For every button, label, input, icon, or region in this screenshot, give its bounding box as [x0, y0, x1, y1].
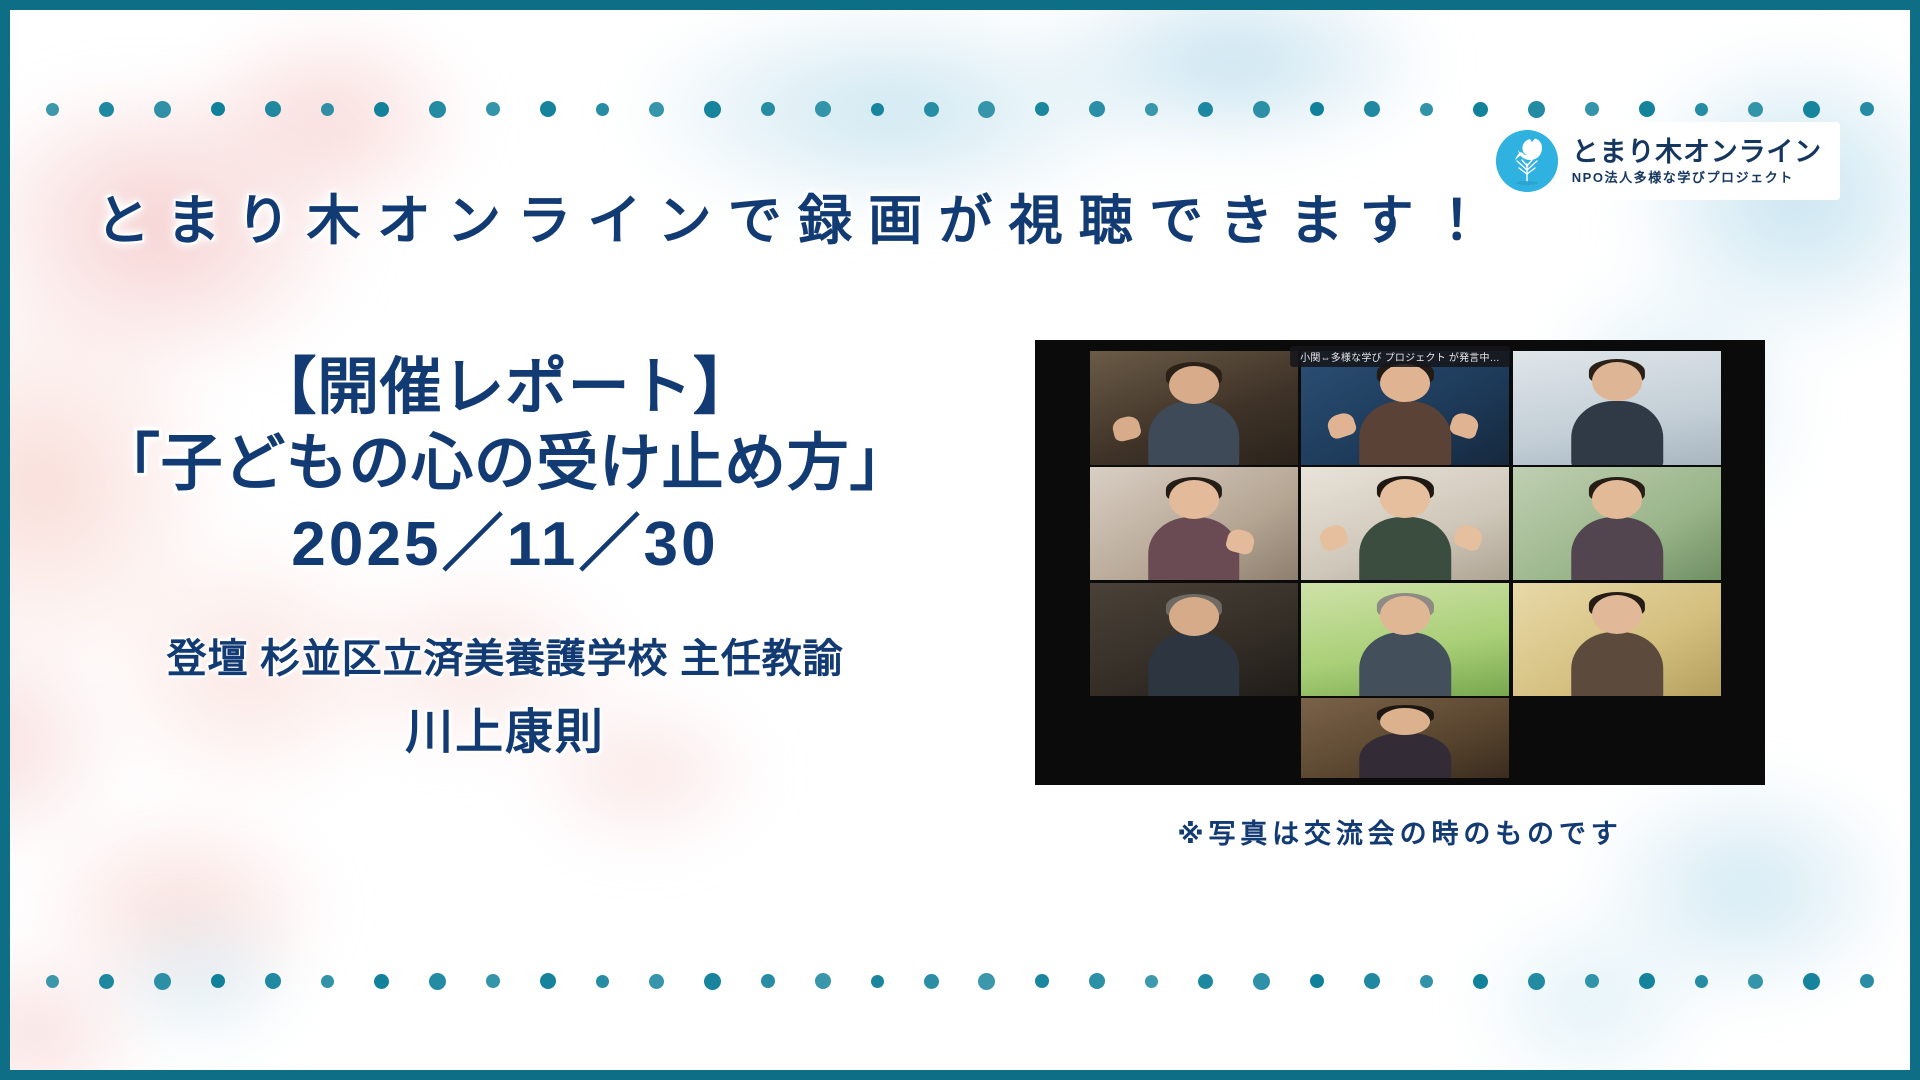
decorative-dot	[1528, 973, 1545, 990]
decorative-dot	[761, 102, 775, 116]
decorative-dot	[429, 973, 446, 990]
dotted-rule-bottom	[46, 968, 1874, 994]
decorative-dot	[1803, 973, 1820, 990]
decorative-dot	[649, 974, 664, 989]
decorative-dot	[596, 975, 609, 988]
decorative-dot	[265, 101, 281, 117]
decorative-dot	[1035, 974, 1049, 988]
decorative-dot	[1528, 101, 1545, 118]
event-date: 2025／11／30	[40, 505, 970, 586]
participant-face	[1592, 480, 1642, 519]
decorative-dot	[1748, 974, 1763, 989]
participant-face	[1380, 479, 1430, 518]
frame-border-bottom	[0, 1070, 1920, 1080]
video-tile	[1301, 698, 1509, 778]
video-tile	[1513, 583, 1721, 696]
frame-border-top	[0, 0, 1920, 10]
frame-border-right	[1910, 0, 1920, 1080]
decorative-dot	[596, 103, 609, 116]
video-tile	[1090, 583, 1298, 696]
decorative-dot	[1585, 974, 1599, 988]
dotted-rule-top	[46, 96, 1874, 122]
decorative-dot	[540, 101, 556, 117]
decorative-dot	[1145, 103, 1158, 116]
brand-logo-text: とまり木オンライン NPO法人多様な学びプロジェクト	[1572, 138, 1822, 185]
decorative-dot	[1639, 101, 1655, 117]
event-title: 「子どもの心の受け止め方」	[40, 426, 970, 502]
participant-face	[1380, 596, 1430, 635]
watercolor-wash-pink-bottom-left	[0, 740, 450, 1080]
decorative-dot	[1748, 102, 1763, 117]
speaker-name: 川上康則	[40, 692, 970, 762]
decorative-dot	[924, 974, 939, 989]
video-tile	[1301, 583, 1509, 696]
decorative-dot	[1253, 101, 1270, 118]
video-tile	[1513, 467, 1721, 580]
brand-logo-subtitle: NPO法人多様な学びプロジェクト	[1572, 171, 1822, 185]
decorative-dot	[99, 974, 114, 989]
video-tile	[1301, 351, 1509, 464]
decorative-dot	[815, 973, 831, 989]
decorative-dot	[374, 102, 389, 117]
decorative-dot	[1145, 975, 1158, 988]
decorative-dot	[1310, 102, 1324, 116]
decorative-dot	[1695, 975, 1708, 988]
decorative-dot	[99, 102, 114, 117]
decorative-dot	[321, 975, 334, 988]
report-label: 【開催レポート】	[40, 350, 970, 426]
decorative-dot	[1473, 974, 1488, 989]
participant-body	[1360, 733, 1452, 778]
participant-body	[1148, 401, 1240, 465]
decorative-dot	[1585, 102, 1599, 116]
decorative-dot	[1198, 974, 1213, 989]
decorative-dot	[486, 974, 500, 988]
decorative-dot	[1035, 102, 1049, 116]
decorative-dot	[1364, 101, 1380, 117]
participant-face	[1169, 366, 1219, 405]
participant-body	[1360, 401, 1452, 465]
video-call-grid	[1035, 340, 1765, 785]
decorative-dot	[978, 973, 995, 990]
video-tile	[1090, 467, 1298, 580]
brand-logo-title: とまり木オンライン	[1572, 138, 1822, 166]
decorative-dot	[704, 101, 721, 118]
decorative-dot	[1253, 973, 1270, 990]
participant-face	[1592, 362, 1642, 401]
decorative-dot	[978, 101, 995, 118]
decorative-dot	[924, 102, 939, 117]
decorative-dot	[761, 974, 775, 988]
brand-logo: とまり木オンライン NPO法人多様な学びプロジェクト	[1486, 122, 1840, 200]
decorative-dot	[429, 101, 446, 118]
decorative-dot	[1860, 102, 1874, 116]
photo-caption-note: ※写真は交流会の時のものです	[1035, 812, 1765, 851]
decorative-dot	[211, 974, 225, 988]
frame-border-left	[0, 0, 10, 1080]
video-tile	[1301, 467, 1509, 580]
participant-body	[1360, 517, 1452, 581]
decorative-dot	[1089, 101, 1105, 117]
speaking-banner: 小関⇔多様な学び プロジェクト が発言中…	[1290, 346, 1510, 367]
participant-body	[1571, 517, 1663, 581]
headline: とまり木オンラインで録画が視聴できます！	[96, 176, 1416, 255]
video-tile	[1513, 351, 1721, 464]
decorative-dot	[1310, 974, 1324, 988]
decorative-dot	[1860, 974, 1874, 988]
participant-face	[1592, 595, 1642, 634]
decorative-dot	[154, 973, 171, 990]
decorative-dot	[871, 103, 884, 116]
participant-face	[1380, 364, 1430, 403]
decorative-dot	[1639, 973, 1655, 989]
participant-body	[1360, 632, 1452, 696]
decorative-dot	[321, 103, 334, 116]
event-info-block: 【開催レポート】 「子どもの心の受け止め方」 2025／11／30 登壇 杉並区…	[40, 350, 970, 762]
participant-body	[1148, 632, 1240, 696]
decorative-dot	[1198, 102, 1213, 117]
decorative-dot	[46, 103, 59, 116]
decorative-dot	[1473, 102, 1488, 117]
decorative-dot	[374, 974, 389, 989]
decorative-dot	[649, 102, 664, 117]
poster-canvas: とまり木オンライン NPO法人多様な学びプロジェクト とまり木オンラインで録画が…	[0, 0, 1920, 1080]
decorative-dot	[154, 101, 171, 118]
decorative-dot	[1803, 101, 1820, 118]
watercolor-wash-blue-bottom-left	[30, 850, 370, 1080]
participant-face	[1380, 708, 1430, 735]
bird-on-tree-icon	[1496, 130, 1558, 192]
decorative-dot	[1420, 103, 1433, 116]
decorative-dot	[211, 102, 225, 116]
decorative-dot	[540, 973, 556, 989]
participant-body	[1571, 632, 1663, 696]
decorative-dot	[1364, 973, 1380, 989]
video-tile	[1090, 351, 1298, 464]
decorative-dot	[1420, 975, 1433, 988]
decorative-dot	[265, 973, 281, 989]
participant-face	[1169, 597, 1219, 636]
participant-body	[1148, 517, 1240, 581]
participant-face	[1169, 480, 1219, 519]
decorative-dot	[1695, 103, 1708, 116]
speaker-role: 登壇 杉並区立済美養護学校 主任教諭	[40, 626, 970, 684]
decorative-dot	[704, 973, 721, 990]
meeting-screenshot: 小関⇔多様な学び プロジェクト が発言中…	[1035, 340, 1765, 785]
decorative-dot	[1089, 973, 1105, 989]
decorative-dot	[486, 102, 500, 116]
decorative-dot	[46, 975, 59, 988]
decorative-dot	[815, 101, 831, 117]
participant-body	[1571, 401, 1663, 465]
decorative-dot	[871, 975, 884, 988]
